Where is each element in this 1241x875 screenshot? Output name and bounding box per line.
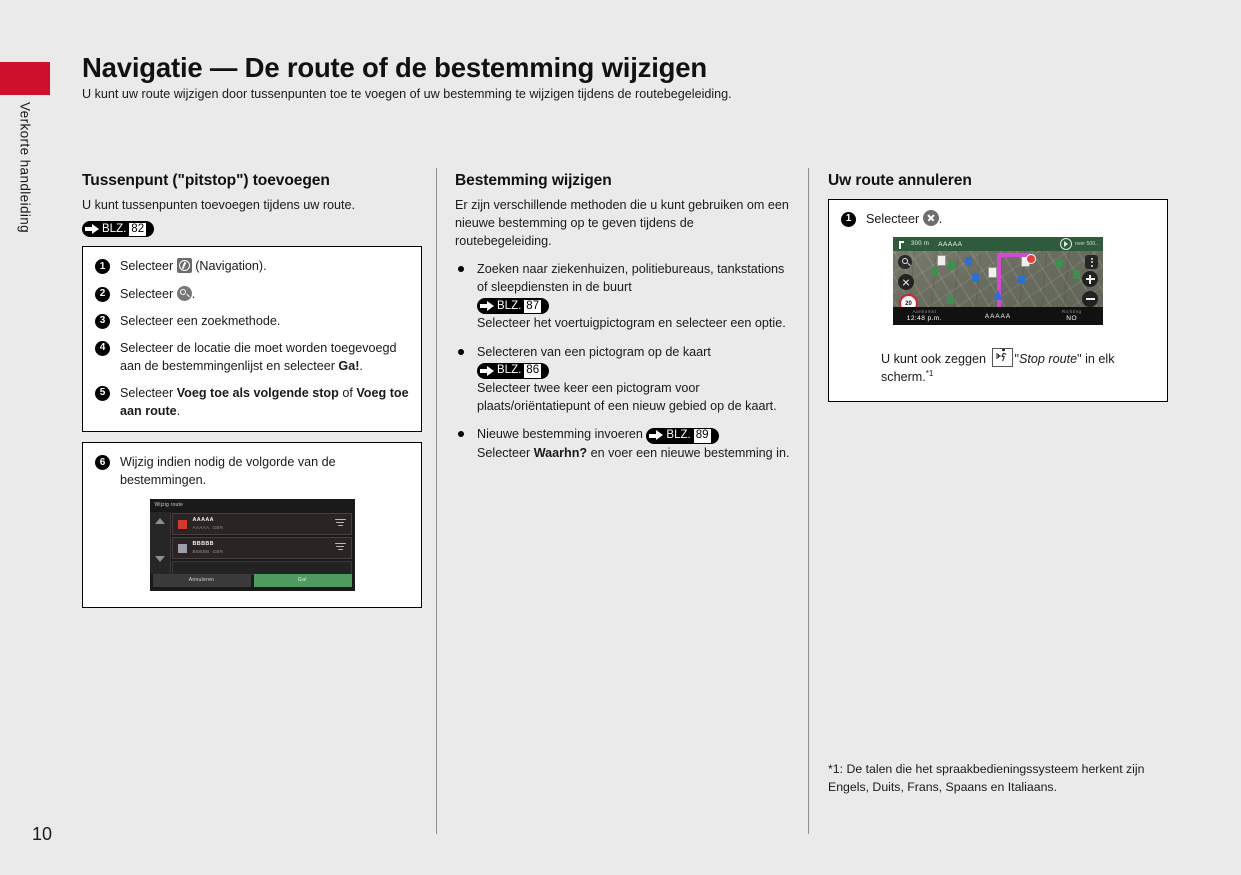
section-color-tab (0, 62, 50, 95)
column-change-destination: Bestemming wijzigen Er zijn verschillend… (455, 172, 791, 472)
route-row-1-name: AAAAA (193, 517, 214, 523)
map-zoom-out-icon[interactable] (1082, 291, 1098, 307)
map-overflow-menu-icon[interactable] (1085, 255, 1098, 269)
poi-icon (988, 267, 997, 278)
status-direction[interactable]: Richting NO (1040, 307, 1103, 325)
col1-heading: Tussenpunt ("pitstop") toevoegen (82, 172, 422, 190)
step-2: 2 Selecteer . (95, 285, 409, 303)
turn-arrow-icon (897, 239, 908, 250)
step-5-text-c: . (177, 404, 181, 418)
arrow-right-icon (480, 301, 495, 312)
section-label-text: Verkorte handleiding (18, 102, 33, 233)
navigation-map-screenshot: 300 m AAAAA over 500.. 20 Aankomst (893, 237, 1103, 325)
step-number: 4 (95, 341, 110, 356)
step-2-pre: Selecteer (120, 287, 177, 301)
step-number: 1 (841, 212, 856, 227)
cancel-route-icon (923, 210, 939, 226)
cancel-button[interactable]: Annuleren (153, 574, 251, 587)
poi-icon (948, 261, 955, 270)
reference-page: 87 (524, 300, 541, 314)
reference-label: BLZ. (497, 365, 521, 377)
eta-badge[interactable]: over 500.. (1060, 238, 1098, 250)
cancel-step-pre: Selecteer (866, 212, 923, 226)
play-circle-icon (1060, 238, 1072, 250)
route-row-1-sub: AAAAA, GBR (193, 525, 224, 530)
reference-page: 89 (694, 429, 711, 443)
column-cancel-route: Uw route annuleren 1 Selecteer . (828, 172, 1168, 402)
step-text: Selecteer (Navigation). (120, 257, 409, 275)
poi-icon (1056, 259, 1063, 268)
col2-intro: Er zijn verschillende methoden die u kun… (455, 197, 791, 251)
step-4-bold-a: Ga! (338, 359, 359, 373)
step-5-text-a: Selecteer (120, 386, 177, 400)
step-number: 5 (95, 386, 110, 401)
page-title: Navigatie — De route of de bestemming wi… (82, 52, 707, 84)
step-text: Selecteer een zoekmethode. (120, 312, 409, 330)
step-5-bold-a: Voeg toe als volgende stop (177, 386, 339, 400)
poi-icon (965, 257, 972, 266)
route-button-row: Annuleren Ga! (153, 574, 352, 587)
route-row-1[interactable]: AAAAA AAAAA, GBR (172, 513, 352, 535)
method-3-detail-bold: Waarhn? (534, 446, 587, 460)
drag-handle-icon[interactable] (335, 519, 346, 530)
poi-icon (1073, 270, 1080, 279)
col2-heading: Bestemming wijzigen (455, 172, 791, 190)
reorder-rail[interactable] (150, 512, 171, 574)
step-1-post: (Navigation). (192, 259, 267, 273)
method-item-new-destination: Nieuwe bestemming invoeren BLZ. 89 Selec… (455, 425, 791, 462)
method-item-nearby-search: Zoeken naar ziekenhuizen, politiebureaus… (455, 260, 791, 333)
poi-icon (947, 295, 954, 304)
go-button[interactable]: Ga! (254, 574, 352, 587)
map-guidance-bar: 300 m AAAAA over 500.. (893, 237, 1103, 251)
step-text: Selecteer de locatie die moet worden toe… (120, 339, 409, 375)
step-number: 6 (95, 455, 110, 470)
route-screen-title: Wijzig route (155, 502, 184, 508)
method-3-detail-b: en voer een nieuwe bestemming in. (587, 446, 789, 460)
step-5-text-b: of (339, 386, 357, 400)
column-add-waypoint: Tussenpunt ("pitstop") toevoegen U kunt … (82, 172, 422, 608)
voice-command-note: U kunt ook zeggen "Stop route" in elk sc… (881, 348, 1155, 387)
map-screenshot-wrapper: 300 m AAAAA over 500.. 20 Aankomst (841, 237, 1155, 330)
arrow-right-icon (85, 224, 100, 235)
status-arrival-value: 12:48 p.m. (907, 315, 942, 322)
map-zoom-in-icon[interactable] (1082, 271, 1098, 287)
poi-icon (931, 267, 938, 276)
step-4: 4 Selecteer de locatie die moet worden t… (95, 339, 409, 375)
status-destination[interactable]: AAAAA (956, 307, 1041, 325)
step-text: Selecteer Voeg toe als volgende stop of … (120, 384, 409, 420)
step-2-post: . (192, 287, 196, 301)
arrow-right-icon (649, 430, 664, 441)
step-1: 1 Selecteer (Navigation). (95, 257, 409, 275)
route-row-empty (172, 561, 352, 575)
navigation-icon (177, 258, 192, 273)
step-text: Selecteer . (120, 285, 409, 303)
eta-text: over 500.. (1075, 241, 1098, 247)
status-direction-value: NO (1066, 315, 1077, 322)
step-1-pre: Selecteer (120, 259, 177, 273)
method-1-detail: Selecteer het voertuigpictogram en selec… (477, 316, 786, 330)
vehicle-position-icon (993, 290, 1003, 300)
steps-box-1-5: 1 Selecteer (Navigation). 2 Selecteer . … (82, 246, 422, 432)
destination-flag-icon (178, 544, 187, 553)
reference-page: 82 (129, 223, 146, 237)
step-text: Wijzig indien nodig de volgorde van de b… (120, 453, 409, 489)
section-label: Verkorte handleiding (0, 102, 50, 362)
search-icon (177, 286, 192, 301)
page-subtitle: U kunt uw route wijzigen door tussenpunt… (82, 87, 732, 101)
reference-page: 86 (524, 364, 541, 378)
arrow-right-icon (480, 366, 495, 377)
map-status-bar: Aankomst 12:48 p.m. AAAAA Richting NO (893, 307, 1103, 325)
poi-icon (937, 255, 946, 266)
move-up-icon[interactable] (155, 518, 165, 524)
col3-heading: Uw route annuleren (828, 172, 1168, 190)
poi-icon (1018, 275, 1025, 284)
footnote-text: *1: De talen die het spraakbedieningssys… (828, 761, 1158, 797)
method-3-detail-a: Selecteer (477, 446, 534, 460)
step-5: 5 Selecteer Voeg toe als volgende stop o… (95, 384, 409, 420)
method-1-text: Zoeken naar ziekenhuizen, politiebureaus… (477, 262, 784, 294)
poi-icon (972, 273, 979, 282)
turn-distance: 300 m (911, 241, 929, 247)
page-number: 10 (32, 824, 52, 845)
cancel-step-post: . (939, 212, 943, 226)
cancel-route-box: 1 Selecteer . (828, 199, 1168, 402)
method-list: Zoeken naar ziekenhuizen, politiebureaus… (455, 260, 791, 462)
col1-intro: U kunt tussenpunten toevoegen tijdens uw… (82, 197, 422, 215)
waypoint-marker-icon (178, 520, 187, 529)
voice-command-icon (992, 348, 1013, 367)
route-row-2-sub: BBBBB, GBR (193, 549, 224, 554)
voice-note-pre: U kunt ook zeggen (881, 352, 990, 366)
route-edit-screenshot: Wijzig route AAAAA AAAAA, GBR BBBBB BBBB… (150, 499, 355, 591)
step-6: 6 Wijzig indien nodig de volgorde van de… (95, 453, 409, 489)
reference-label: BLZ. (102, 224, 126, 236)
voice-command-phrase: Stop route (1019, 352, 1077, 366)
route-screenshot-wrapper: Wijzig route AAAAA AAAAA, GBR BBBBB BBBB… (95, 499, 409, 596)
next-street-name: AAAAA (938, 241, 962, 248)
page-reference-badge[interactable]: BLZ. 89 (646, 428, 718, 444)
page-reference-badge[interactable]: BLZ. 86 (477, 363, 549, 379)
column-divider-1 (436, 168, 437, 834)
cancel-step-1: 1 Selecteer . (841, 210, 1155, 228)
method-item-select-map-icon: Selecteren van een pictogram op de kaart… (455, 343, 791, 416)
status-arrival[interactable]: Aankomst 12:48 p.m. (893, 307, 956, 325)
step-text: Selecteer . (866, 210, 1155, 228)
step-3: 3 Selecteer een zoekmethode. (95, 312, 409, 330)
status-destination-value: AAAAA (985, 313, 1011, 320)
step-number: 2 (95, 287, 110, 302)
map-cancel-route-icon[interactable] (898, 274, 914, 290)
step-4-text-b: . (359, 359, 363, 373)
route-row-2[interactable]: BBBBB BBBBB, GBR (172, 537, 352, 559)
steps-box-6: 6 Wijzig indien nodig de volgorde van de… (82, 442, 422, 607)
method-3-text: Nieuwe bestemming invoeren (477, 427, 643, 441)
drag-handle-icon[interactable] (335, 543, 346, 554)
reference-label: BLZ. (497, 301, 521, 313)
page-reference-badge[interactable]: BLZ. 87 (477, 298, 549, 314)
move-down-icon[interactable] (155, 556, 165, 562)
step-number: 3 (95, 314, 110, 329)
footnote-marker: *1 (926, 369, 934, 378)
method-2-detail: Selecteer twee keer een pictogram voor p… (477, 381, 777, 413)
method-2-text: Selecteren van een pictogram op de kaart (477, 345, 711, 359)
column-divider-2 (808, 168, 809, 834)
page-reference-badge[interactable]: BLZ. 82 (82, 221, 154, 237)
step-number: 1 (95, 259, 110, 274)
reference-label: BLZ. (666, 430, 690, 442)
route-row-2-name: BBBBB (193, 541, 214, 547)
